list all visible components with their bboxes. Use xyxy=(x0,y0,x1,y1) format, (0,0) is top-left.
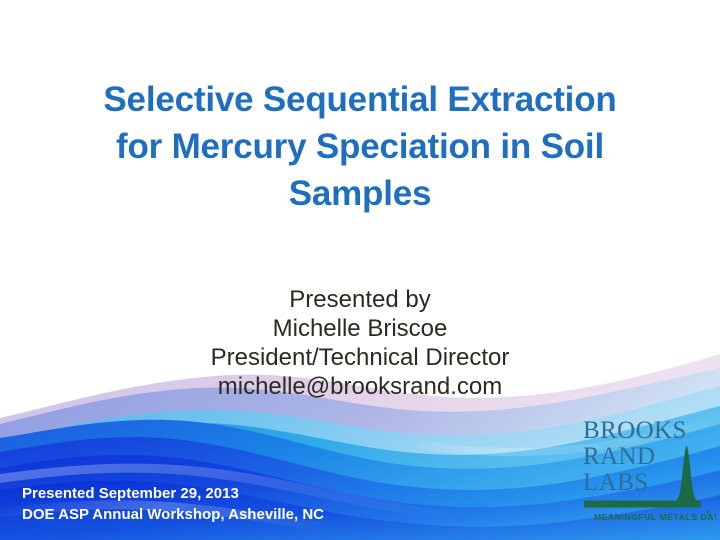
presented-by-label: Presented by xyxy=(60,285,660,314)
logo-word-rand: RAND xyxy=(583,443,655,470)
presenter-email: michelle@brooksrand.com xyxy=(60,372,660,401)
slide-title: Selective Sequential Extraction for Merc… xyxy=(50,76,670,217)
logo-trademark-icon: ® xyxy=(706,510,711,517)
logo-word-labs: LABS xyxy=(583,469,649,496)
presenter-name: Michelle Briscoe xyxy=(60,314,660,343)
title-line-3: Samples xyxy=(50,170,670,217)
footer-event: DOE ASP Annual Workshop, Asheville, NC xyxy=(22,504,324,525)
brooks-rand-labs-logo: BROOKS RAND LABS MEANINGFUL METALS DATA … xyxy=(580,416,716,528)
footer-date: Presented September 29, 2013 xyxy=(22,483,324,504)
presenter-title: President/Technical Director xyxy=(60,343,660,372)
presenter-info: Presented by Michelle Briscoe President/… xyxy=(60,285,660,401)
title-line-2: for Mercury Speciation in Soil xyxy=(50,123,670,170)
logo-tagline: MEANINGFUL METALS DATA xyxy=(594,512,716,522)
presentation-slide: Selective Sequential Extraction for Merc… xyxy=(0,0,720,540)
slide-footer: Presented September 29, 2013 DOE ASP Ann… xyxy=(22,483,324,525)
title-line-1: Selective Sequential Extraction xyxy=(50,76,670,123)
logo-word-brooks: BROOKS xyxy=(583,417,687,444)
